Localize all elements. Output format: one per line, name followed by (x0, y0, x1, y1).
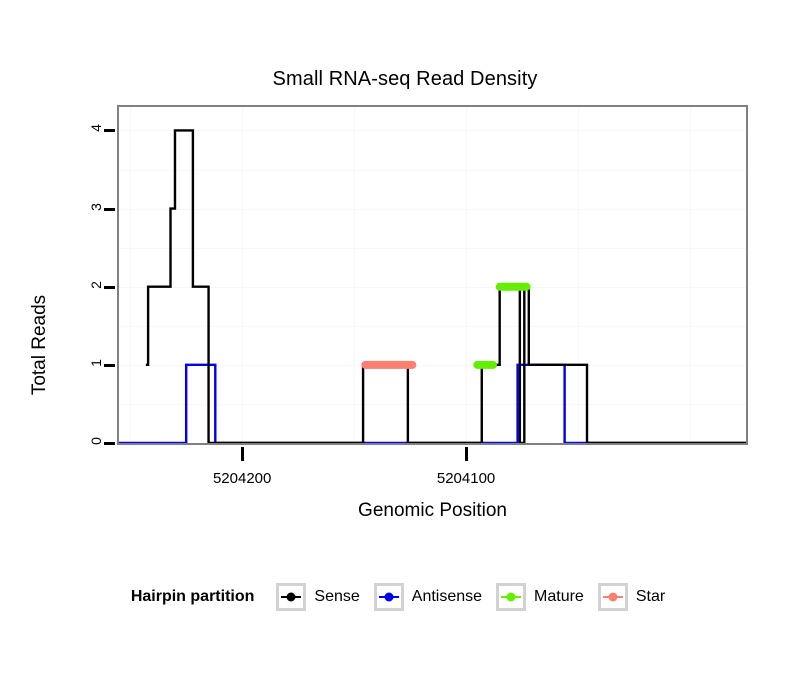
legend-key-mature-icon (496, 583, 526, 611)
legend-label: Mature (534, 588, 584, 606)
plot-panel (117, 105, 748, 445)
trace-sense (146, 130, 746, 443)
y-tick-mark (104, 364, 115, 367)
legend-item-sense[interactable]: Sense (276, 583, 359, 611)
y-tick-mark (104, 442, 115, 445)
x-axis-label: Genomic Position (117, 500, 748, 522)
legend: Hairpin partition SenseAntisenseMatureSt… (0, 583, 810, 611)
legend-label: Sense (314, 588, 359, 606)
page-title: Small RNA-seq Read Density (0, 68, 810, 91)
legend-key-point (287, 593, 296, 602)
y-tick-label: 4 (76, 120, 100, 136)
legend-item-mature[interactable]: Mature (496, 583, 584, 611)
x-tick-mark (465, 447, 468, 461)
legend-key-sense-icon (276, 583, 306, 611)
y-axis-label: Total Reads (29, 245, 51, 445)
y-tick-label: 2 (76, 277, 100, 293)
legend-key-point (608, 593, 617, 602)
legend-key-point (384, 593, 393, 602)
legend-label: Antisense (412, 588, 482, 606)
legend-item-antisense[interactable]: Antisense (374, 583, 482, 611)
legend-item-star[interactable]: Star (598, 583, 665, 611)
x-tick-label: 5204100 (396, 470, 536, 487)
legend-entries: SenseAntisenseMatureStar (276, 583, 679, 611)
y-tick-label: 1 (76, 355, 100, 371)
legend-title: Hairpin partition (131, 588, 255, 606)
y-tick-mark (104, 286, 115, 289)
legend-key-antisense-icon (374, 583, 404, 611)
y-tick-label: 3 (76, 199, 100, 215)
y-tick-label: 0 (76, 433, 100, 449)
legend-key-point (507, 593, 516, 602)
x-tick-label: 5204200 (172, 470, 312, 487)
legend-key-star-icon (598, 583, 628, 611)
y-tick-mark (104, 129, 115, 132)
trace-antisense (119, 365, 746, 443)
legend-label: Star (636, 588, 665, 606)
plot-area (119, 107, 746, 443)
x-tick-mark (241, 447, 244, 461)
y-tick-mark (104, 208, 115, 211)
chart-root: Small RNA-seq Read Density 01234 Total R… (0, 0, 810, 690)
data-traces (119, 107, 746, 443)
